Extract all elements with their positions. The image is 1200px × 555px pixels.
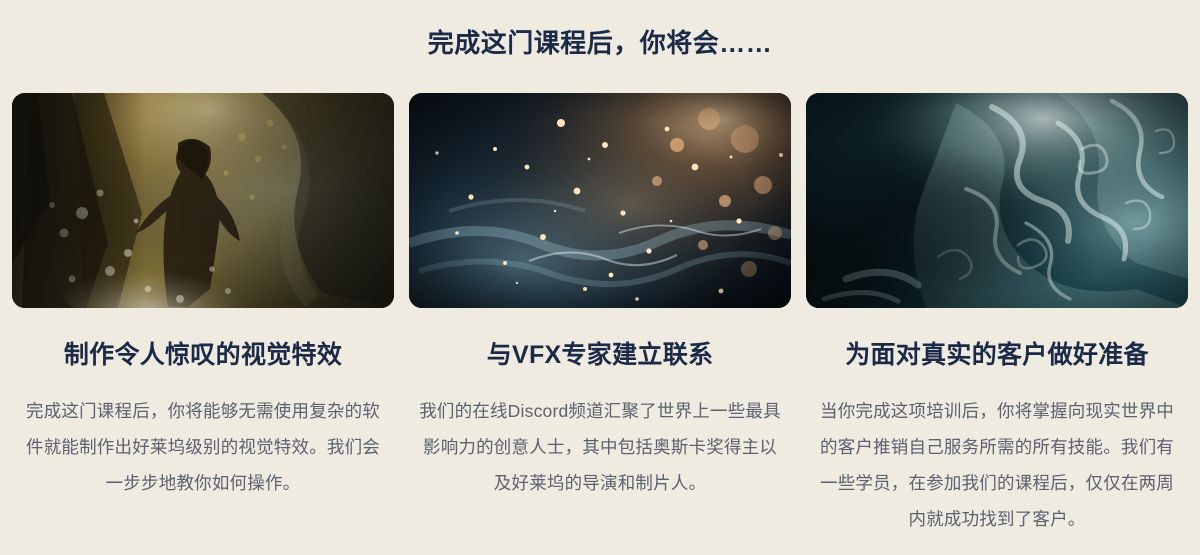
benefit-card-heading: 制作令人惊叹的视觉特效: [64, 339, 342, 371]
benefit-card-heading: 与VFX专家建立联系: [487, 339, 714, 371]
page-title: 完成这门课程后，你将会……: [0, 26, 1200, 60]
benefit-card-grid: 制作令人惊叹的视觉特效 完成这门课程后，你将能够无需使用复杂的软件就能制作出好莱…: [12, 93, 1188, 537]
benefit-card-body: 当你完成这项培训后，你将掌握向现实世界中的客户推销自己服务所需的所有技能。我们有…: [812, 393, 1182, 537]
benefits-section: 完成这门课程后，你将会……: [0, 0, 1200, 555]
benefit-card-body: 完成这门课程后，你将能够无需使用复杂的软件就能制作出好莱坞级别的视觉特效。我们会…: [18, 393, 388, 501]
benefit-card-heading: 为面对真实的客户做好准备: [845, 339, 1149, 371]
benefit-card: 为面对真实的客户做好准备 当你完成这项培训后，你将掌握向现实世界中的客户推销自己…: [806, 93, 1188, 537]
benefit-card-body: 我们的在线Discord频道汇聚了世界上一些最具影响力的创意人士，其中包括奥斯卡…: [415, 393, 785, 501]
teal-smoke-vfx-image: [806, 93, 1188, 308]
runner-in-water-vfx-image: [12, 93, 394, 308]
sparks-and-smoke-vfx-image: [409, 93, 791, 308]
benefit-card: 与VFX专家建立联系 我们的在线Discord频道汇聚了世界上一些最具影响力的创…: [409, 93, 791, 537]
benefit-card: 制作令人惊叹的视觉特效 完成这门课程后，你将能够无需使用复杂的软件就能制作出好莱…: [12, 93, 394, 537]
